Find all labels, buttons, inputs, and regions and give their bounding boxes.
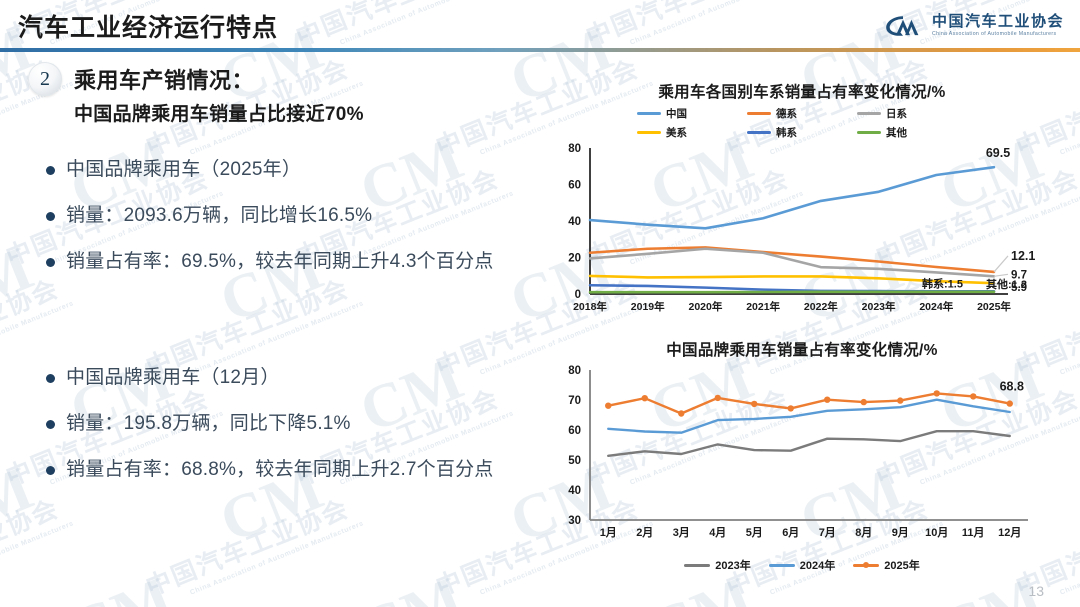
x-axis-tick-label: 4月 [709, 526, 726, 539]
list-item: 销量：2093.6万辆，同比增长16.5% [46, 203, 516, 230]
data-label: 其他:1.2 [986, 277, 1027, 291]
bullet-text: 销量：195.8万辆，同比下降5.1% [66, 411, 351, 438]
chart-plot-area: 0204060802018年2019年2020年2021年2022年2023年2… [532, 140, 1072, 331]
legend-swatch-icon [747, 131, 771, 134]
y-axis-tick-label: 0 [575, 289, 581, 301]
watermark-text: 中国汽车工业协会China Association of Automobile … [580, 596, 805, 607]
chart-legend: 2023年2024年2025年 [532, 557, 1072, 573]
list-item: 中国品牌乘用车（2025年） [46, 157, 516, 184]
slide: 中国汽车工业协会China Association of Automobile … [0, 0, 1080, 607]
x-axis-tick-label: 2022年 [804, 300, 838, 313]
data-label: 68.8 [1000, 380, 1024, 394]
bullet-dot-icon [46, 466, 55, 475]
series-marker-2025年 [970, 393, 976, 399]
chart-country-share: 乘用车各国别车系销量占有率变化情况/% 中国德系日系美系韩系其他 0204060… [532, 80, 1072, 310]
chart-title: 乘用车各国别车系销量占有率变化情况/% [532, 80, 1072, 102]
y-axis-tick-label: 70 [568, 395, 581, 407]
y-axis-tick-label: 80 [568, 365, 581, 377]
legend-swatch-icon [637, 131, 661, 134]
x-axis-tick-label: 2021年 [746, 300, 780, 313]
chart-legend: 中国德系日系美系韩系其他 [637, 106, 967, 140]
legend-label: 美系 [666, 125, 687, 140]
y-axis-tick-label: 30 [568, 515, 581, 527]
line-chart-svg: 3040506070801月2月3月4月5月6月7月8月9月10月11月12月6… [532, 360, 1072, 550]
section-heading-line2: 中国品牌乘用车销量占比接近70% [74, 99, 364, 126]
legend-swatch-icon [769, 564, 795, 567]
bullet-text: 销量占有率：69.5%，较去年同期上升4.3个百分点 [66, 249, 494, 276]
x-axis-tick-label: 2月 [636, 526, 653, 539]
chart-title: 中国品牌乘用车销量占有率变化情况/% [532, 338, 1072, 360]
y-axis-tick-label: 20 [568, 253, 581, 265]
section-headings: 乘用车产销情况： 中国品牌乘用车销量占比接近70% [74, 62, 364, 126]
series-marker-2025年 [1007, 400, 1013, 406]
legend-swatch-icon [853, 564, 879, 567]
bullet-dot-icon [46, 374, 55, 383]
chart-china-brand-share: 中国品牌乘用车销量占有率变化情况/% 3040506070801月2月3月4月5… [532, 338, 1072, 588]
slide-header: 汽车工业经济运行特点 中国汽车工业协会 China Association of… [0, 0, 1080, 52]
legend-item-2025年[interactable]: 2025年 [853, 557, 919, 573]
caam-logo-text: 中国汽车工业协会 China Association of Automobile… [932, 14, 1064, 37]
y-axis-tick-label: 80 [568, 143, 581, 155]
x-axis-tick-label: 9月 [892, 526, 909, 539]
series-line-2023年 [608, 431, 1010, 456]
series-marker-2025年 [715, 395, 721, 401]
legend-item-2024年[interactable]: 2024年 [769, 557, 835, 573]
section-number-badge: 2 [28, 62, 62, 96]
section-heading-block: 2 乘用车产销情况： 中国品牌乘用车销量占比接近70% [28, 62, 364, 126]
legend-label: 德系 [776, 106, 797, 121]
x-axis-tick-label: 6月 [782, 526, 799, 539]
list-item: 中国品牌乘用车（12月） [46, 365, 516, 392]
bullet-text: 中国品牌乘用车（12月） [66, 365, 280, 392]
page-number: 13 [1028, 583, 1044, 599]
x-axis-tick-label: 12月 [998, 526, 1021, 539]
series-line-2025年 [608, 393, 1010, 413]
series-marker-2025年 [788, 405, 794, 411]
x-axis-tick-label: 5月 [746, 526, 763, 539]
legend-label: 韩系 [776, 125, 797, 140]
legend-label: 2023年 [715, 557, 750, 573]
legend-swatch-icon [637, 112, 661, 115]
legend-swatch-icon [684, 564, 710, 567]
series-marker-2025年 [897, 397, 903, 403]
bullet-dot-icon [46, 420, 55, 429]
x-axis-tick-label: 11月 [962, 526, 985, 539]
x-axis-tick-label: 2018年 [573, 300, 607, 313]
legend-item-其他[interactable]: 其他 [857, 125, 967, 140]
legend-item-日系[interactable]: 日系 [857, 106, 967, 121]
bullet-dot-icon [46, 258, 55, 267]
caam-logo-en: China Association of Automobile Manufact… [932, 32, 1064, 37]
list-item: 销量占有率：68.8%，较去年同期上升2.7个百分点 [46, 457, 516, 484]
x-axis-tick-label: 7月 [819, 526, 836, 539]
bullet-dot-icon [46, 166, 55, 175]
caam-logo: 中国汽车工业协会 China Association of Automobile… [882, 10, 1064, 42]
bullet-text: 中国品牌乘用车（2025年） [66, 157, 301, 184]
chart-plot-area: 3040506070801月2月3月4月5月6月7月8月9月10月11月12月6… [532, 360, 1072, 555]
caam-logo-mark [882, 13, 924, 39]
x-axis-tick-label: 2025年 [977, 300, 1011, 313]
legend-item-中国[interactable]: 中国 [637, 106, 747, 121]
legend-item-德系[interactable]: 德系 [747, 106, 857, 121]
bullet-text: 销量：2093.6万辆，同比增长16.5% [66, 203, 372, 230]
y-axis-tick-label: 60 [568, 180, 581, 192]
x-axis-tick-label: 2020年 [688, 300, 722, 313]
series-line-日系 [590, 249, 994, 277]
x-axis-tick-label: 8月 [855, 526, 872, 539]
bullet-dot-icon [46, 212, 55, 221]
legend-swatch-icon [857, 131, 881, 134]
page-title: 汽车工业经济运行特点 [18, 8, 278, 44]
legend-label: 日系 [886, 106, 907, 121]
bullet-list-december: 中国品牌乘用车（12月） 销量：195.8万辆，同比下降5.1% 销量占有率：6… [46, 365, 516, 503]
data-label: 韩系:1.5 [922, 276, 963, 290]
series-marker-2025年 [934, 390, 940, 396]
bullet-list-annual: 中国品牌乘用车（2025年） 销量：2093.6万辆，同比增长16.5% 销量占… [46, 157, 516, 295]
legend-marker-icon [863, 562, 869, 568]
legend-label: 2025年 [884, 557, 919, 573]
list-item: 销量：195.8万辆，同比下降5.1% [46, 411, 516, 438]
x-axis-tick-label: 10月 [925, 526, 948, 539]
legend-item-美系[interactable]: 美系 [637, 125, 747, 140]
series-marker-2025年 [642, 395, 648, 401]
x-axis-tick-label: 2024年 [919, 300, 953, 313]
x-axis-tick-label: 2019年 [631, 300, 665, 313]
watermark-text: 中国汽车工业协会China Association of Automobile … [870, 596, 1080, 607]
series-marker-2025年 [751, 401, 757, 407]
legend-swatch-icon [857, 112, 881, 115]
caam-logo-cn: 中国汽车工业协会 [932, 14, 1064, 29]
y-axis-tick-label: 60 [568, 425, 581, 437]
series-marker-2025年 [824, 397, 830, 403]
y-axis-tick-label: 50 [568, 455, 581, 467]
legend-label: 中国 [666, 106, 687, 121]
bullet-text: 销量占有率：68.8%，较去年同期上升2.7个百分点 [66, 457, 494, 484]
series-line-中国 [590, 167, 994, 228]
series-marker-2025年 [861, 399, 867, 405]
legend-item-2023年[interactable]: 2023年 [684, 557, 750, 573]
x-axis-tick-label: 3月 [673, 526, 690, 539]
y-axis-tick-label: 40 [568, 216, 581, 228]
data-label: 12.1 [1011, 249, 1035, 263]
section-heading-line1: 乘用车产销情况： [74, 63, 364, 95]
header-divider [0, 48, 1080, 52]
line-chart-svg: 0204060802018年2019年2020年2021年2022年2023年2… [532, 140, 1072, 326]
legend-label: 2024年 [800, 557, 835, 573]
legend-swatch-icon [747, 112, 771, 115]
y-axis-tick-label: 40 [568, 485, 581, 497]
legend-item-韩系[interactable]: 韩系 [747, 125, 857, 140]
content-left-column: 2 乘用车产销情况： 中国品牌乘用车销量占比接近70% 中国品牌乘用车（2025… [0, 52, 530, 607]
data-label: 69.5 [986, 146, 1010, 160]
series-marker-2025年 [678, 410, 684, 416]
legend-label: 其他 [886, 125, 907, 140]
x-axis-tick-label: 2023年 [862, 300, 896, 313]
series-marker-2025年 [605, 403, 611, 409]
list-item: 销量占有率：69.5%，较去年同期上升4.3个百分点 [46, 249, 516, 276]
x-axis-tick-label: 1月 [600, 526, 617, 539]
